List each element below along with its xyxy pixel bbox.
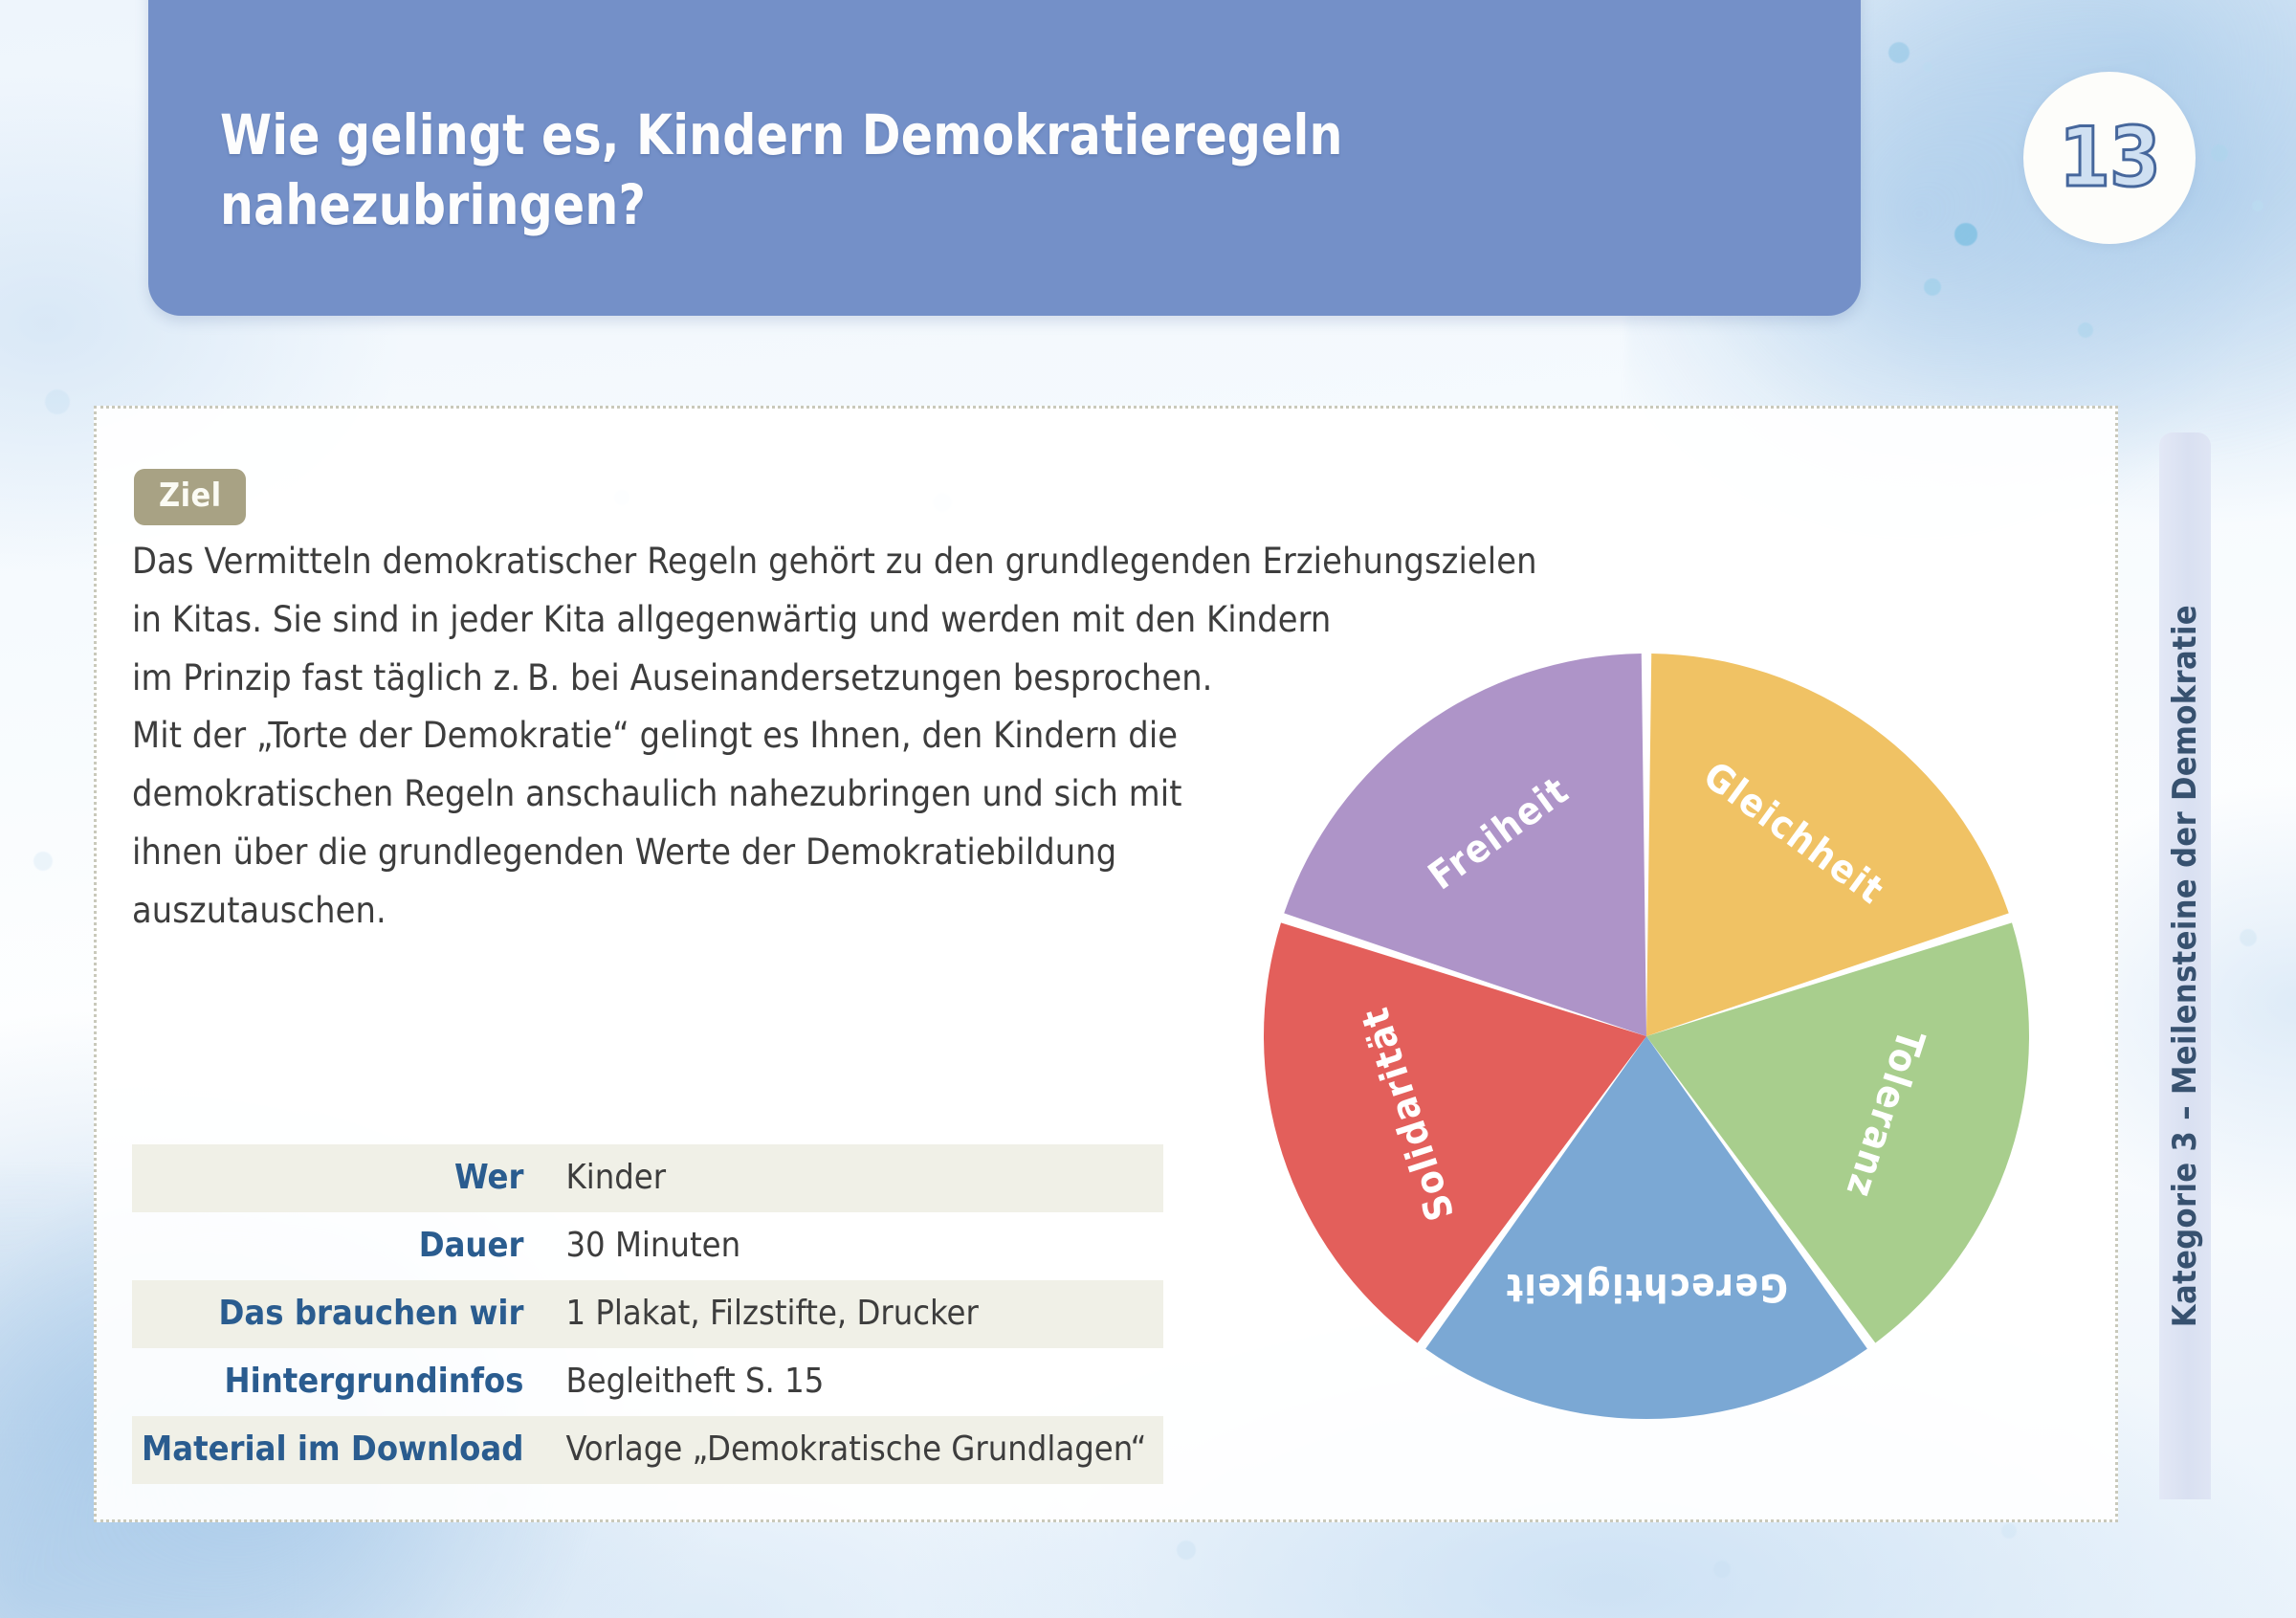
- pie-chart-svg: GleichheitToleranzGerechtigkeitSolidarit…: [1249, 639, 2043, 1433]
- watercolor-speck: [2001, 1523, 2017, 1539]
- table-row-value: Begleitheft S. 15: [544, 1348, 1163, 1416]
- table-row-value: 1 Plakat, Filzstifte, Drucker: [544, 1280, 1163, 1348]
- watercolor-speck: [2211, 144, 2228, 162]
- category-tab-label: Kategorie 3 – Meilensteine der Demokrati…: [2159, 432, 2211, 1499]
- watercolor-speck: [1954, 223, 1977, 246]
- watercolor-speck: [45, 389, 70, 414]
- goal-badge: Ziel: [134, 469, 246, 525]
- watercolor-speck: [2252, 200, 2263, 211]
- page-root: Wie gelingt es, Kindern Demokratieregeln…: [0, 0, 2296, 1618]
- page-number-value: 13: [2059, 117, 2160, 199]
- table-row-label: Dauer: [132, 1212, 544, 1280]
- table-row-value: Vorlage „Demokratische Grundlagen“: [544, 1416, 1163, 1484]
- table-row: Dauer30 Minuten: [132, 1212, 1163, 1280]
- table-row-value: 30 Minuten: [544, 1212, 1163, 1280]
- table-row-value: Kinder: [544, 1144, 1163, 1212]
- table-row: HintergrundinfosBegleitheft S. 15: [132, 1348, 1163, 1416]
- watercolor-speck: [1713, 1561, 1731, 1578]
- watercolor-speck: [2240, 929, 2257, 946]
- watercolor-speck: [1888, 42, 1910, 63]
- watercolor-speck: [2078, 322, 2093, 338]
- info-table: WerKinderDauer30 MinutenDas brauchen wir…: [132, 1144, 1163, 1484]
- table-row-label: Wer: [132, 1144, 544, 1212]
- democracy-pie-chart: GleichheitToleranzGerechtigkeitSolidarit…: [1249, 639, 2043, 1433]
- watercolor-speck: [1177, 1540, 1196, 1560]
- table-row: Material im DownloadVorlage „Demokratisc…: [132, 1416, 1163, 1484]
- watercolor-speck: [1923, 62, 1932, 72]
- watercolor-speck: [1924, 278, 1941, 296]
- table-row: Das brauchen wir1 Plakat, Filzstifte, Dr…: [132, 1280, 1163, 1348]
- table-row-label: Material im Download: [132, 1416, 544, 1484]
- page-title: Wie gelingt es, Kindern Demokratieregeln…: [220, 100, 1389, 239]
- table-row-label: Das brauchen wir: [132, 1280, 544, 1348]
- watercolor-speck: [33, 852, 53, 871]
- table-row: WerKinder: [132, 1144, 1163, 1212]
- page-number-badge: 13: [2023, 72, 2196, 244]
- pie-slice-label: Gerechtigkeit: [1505, 1265, 1788, 1309]
- table-row-label: Hintergrundinfos: [132, 1348, 544, 1416]
